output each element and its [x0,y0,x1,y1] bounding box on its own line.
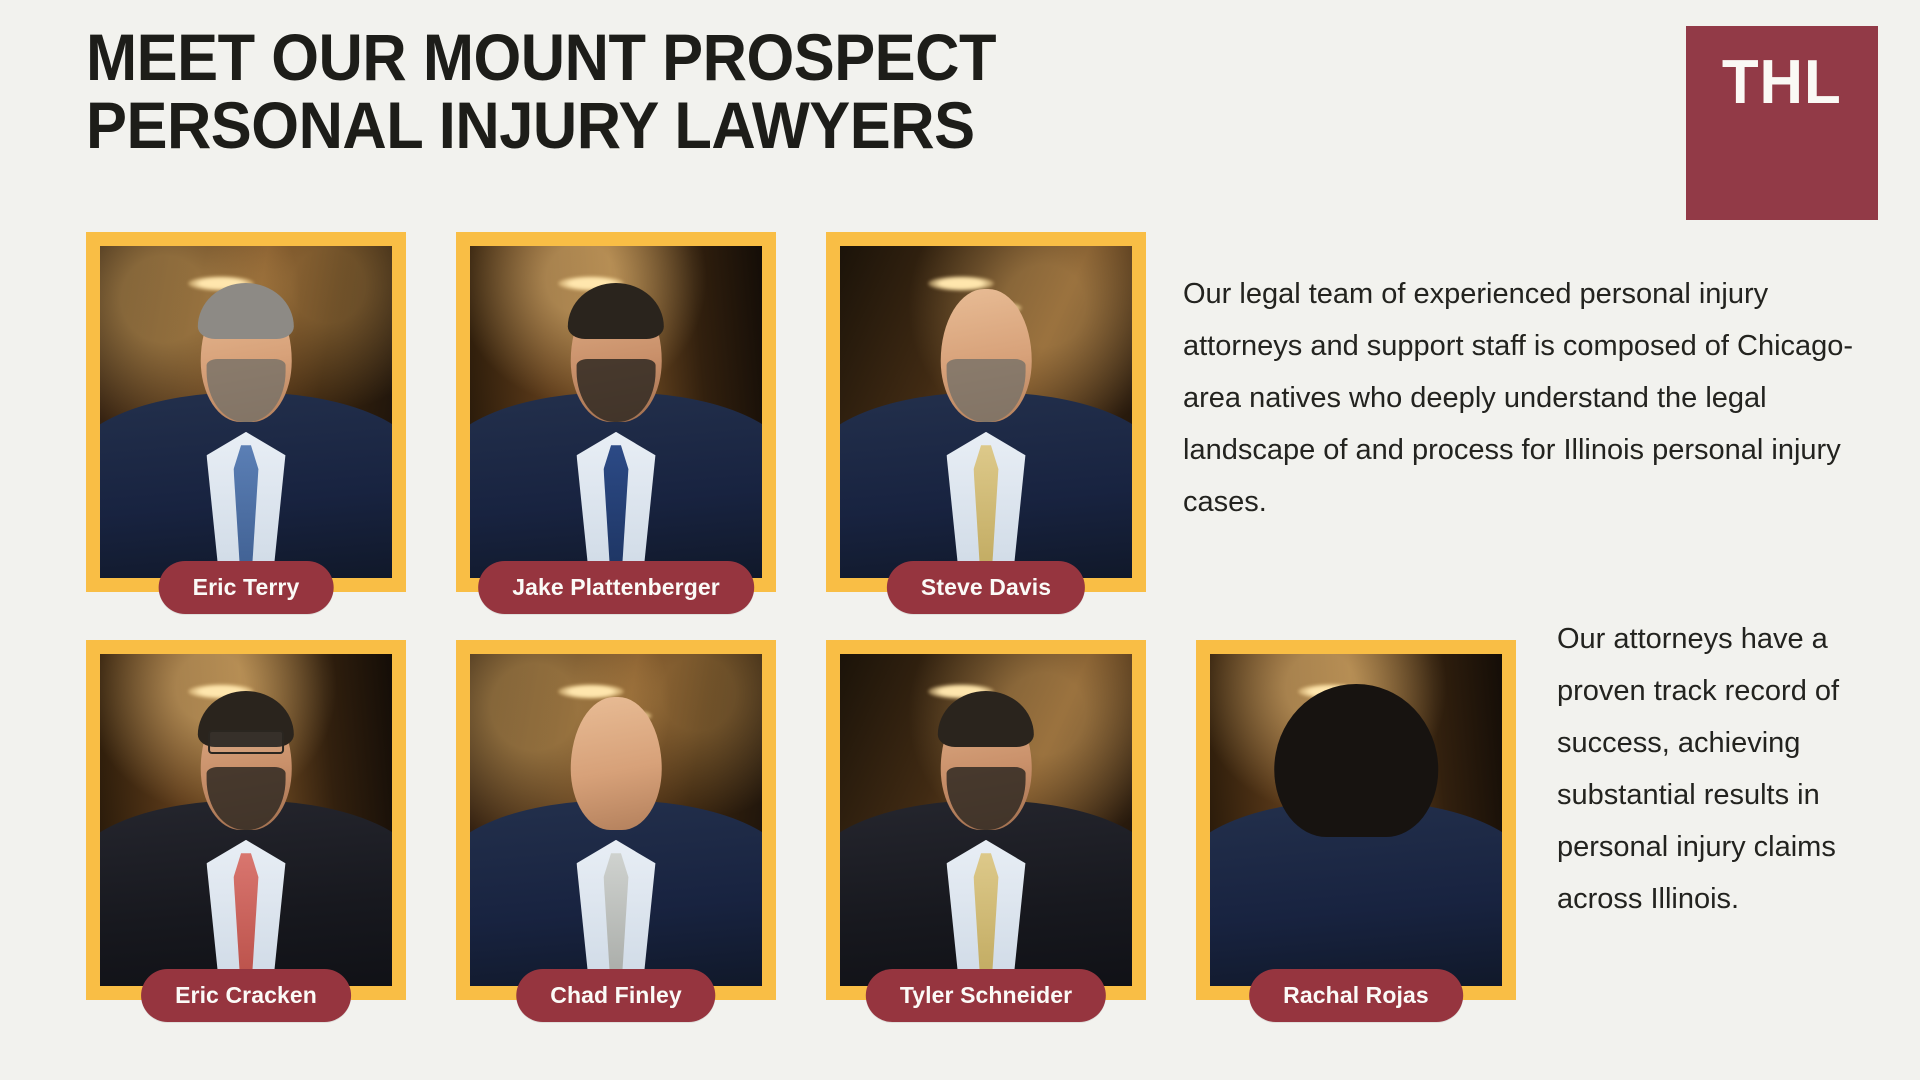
page-title-line-1: MEET OUR MOUNT PROSPECT [86,24,1202,92]
track-record-paragraph: Our attorneys have a proven track record… [1557,613,1897,925]
face [571,697,662,830]
infographic-page: MEET OUR MOUNT PROSPECT PERSONAL INJURY … [0,0,1920,1080]
attorney-card[interactable]: Steve Davis [826,232,1146,592]
attorney-name-badge[interactable]: Eric Terry [159,561,334,614]
attorney-name-badge[interactable]: Tyler Schneider [866,969,1106,1022]
attorney-card[interactable]: Tyler Schneider [826,640,1146,1000]
attorney-card[interactable]: Eric Cracken [86,640,406,1000]
attorney-card[interactable]: Jake Plattenberger [456,232,776,592]
attorney-photo [1210,654,1502,986]
attorney-name-badge[interactable]: Jake Plattenberger [478,561,754,614]
attorney-card[interactable]: Rachal Rojas [1196,640,1516,1000]
thl-logo: THL [1686,26,1878,220]
attorney-photo [840,246,1132,578]
page-title-line-2: PERSONAL INJURY LAWYERS [86,92,1202,160]
attorney-name-badge[interactable]: Steve Davis [887,561,1085,614]
intro-paragraph: Our legal team of experienced personal i… [1183,268,1885,528]
attorney-name-badge[interactable]: Eric Cracken [141,969,351,1022]
attorney-photo [470,246,762,578]
attorney-photo [470,654,762,986]
glasses-icon [208,730,284,753]
attorney-photo [100,654,392,986]
thl-logo-text: THL [1722,52,1842,114]
page-title: MEET OUR MOUNT PROSPECT PERSONAL INJURY … [86,24,1202,160]
attorney-card[interactable]: Eric Terry [86,232,406,592]
attorney-name-badge[interactable]: Rachal Rojas [1249,969,1463,1022]
attorney-photo [100,246,392,578]
attorney-card[interactable]: Chad Finley [456,640,776,1000]
attorney-name-badge[interactable]: Chad Finley [516,969,715,1022]
attorney-photo [840,654,1132,986]
